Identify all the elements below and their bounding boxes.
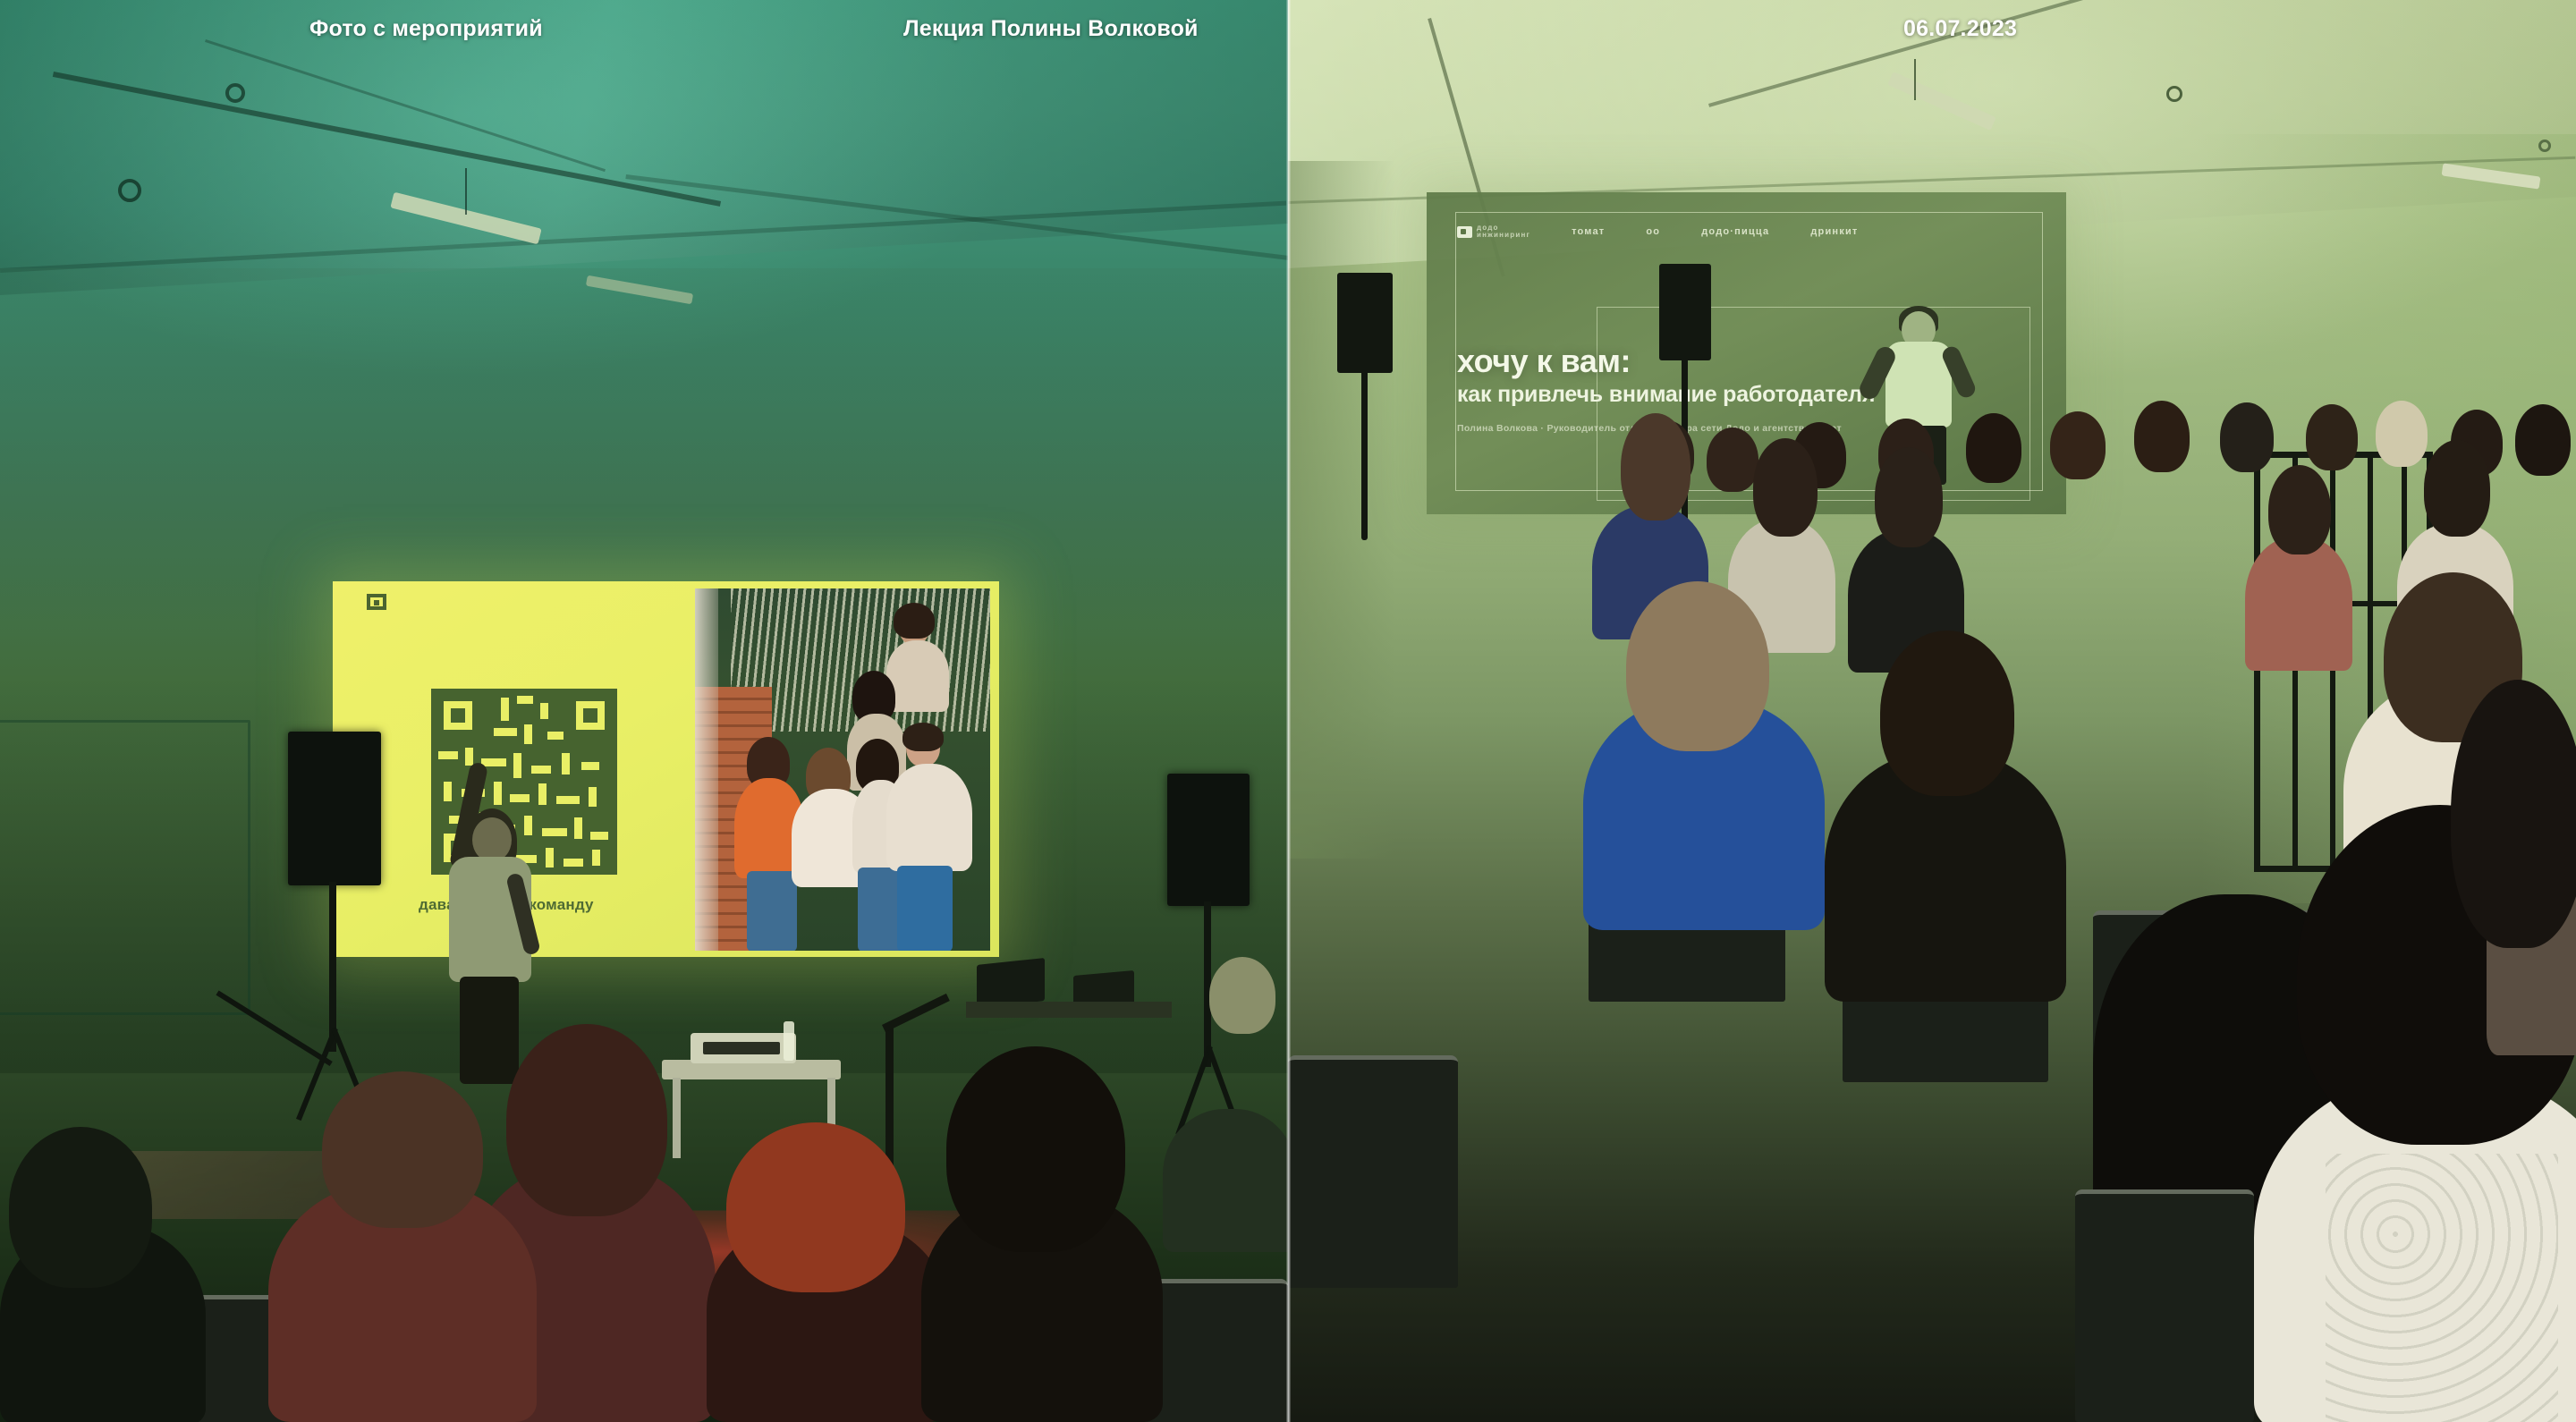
audience-head — [2376, 401, 2428, 467]
hanging-light-1-cable — [465, 168, 467, 215]
overlay-left-label: Фото с мероприятий — [309, 16, 543, 42]
projector-device — [691, 1033, 796, 1063]
audience-head — [9, 1127, 152, 1288]
door-frame — [0, 720, 250, 1015]
audience-head — [322, 1071, 483, 1228]
oo-logo: ОО — [1646, 226, 1660, 237]
audience-head — [2515, 404, 2571, 476]
audience-head — [1875, 447, 1943, 547]
audience-head — [1753, 438, 1818, 537]
ceiling-anchor-icon — [2538, 140, 2551, 152]
qr-finder-tr — [567, 692, 614, 739]
drinkit-logo: дринкит — [1810, 226, 1858, 237]
laptop-left — [977, 958, 1045, 1008]
audience-shoulders — [1163, 1109, 1288, 1252]
ceiling-light-cable — [1914, 59, 1916, 100]
audience-head — [2451, 680, 2576, 948]
audience-head — [1880, 631, 2014, 796]
wall-left-right-panel — [1288, 161, 1395, 859]
table-leg-left — [673, 1078, 681, 1158]
qr-finder-tl — [435, 692, 481, 739]
audience-head — [2134, 401, 2190, 472]
tech-desk — [966, 1002, 1172, 1018]
audience-head — [1707, 427, 1758, 492]
audience-head — [506, 1024, 667, 1216]
audience-chair — [1288, 1055, 1458, 1288]
speaker-stand-left — [329, 882, 336, 1052]
event-photo-left[interactable]: давай к нам в команду — [0, 0, 1288, 1422]
team-photo — [695, 588, 990, 951]
ceiling-hook-icon — [118, 179, 141, 202]
foreground-shirt-pattern — [2326, 1154, 2558, 1422]
pa-speaker-right — [1167, 774, 1250, 906]
audience-head — [726, 1122, 905, 1292]
audience-head — [2050, 411, 2106, 479]
curtain — [695, 588, 718, 951]
pa-speaker-stand-left — [1361, 370, 1368, 540]
event-photo-right[interactable]: Додо Инжиниринг томат ОО додо·пицца дрин… — [1288, 0, 2576, 1422]
audience-head — [1626, 581, 1769, 751]
tomat-logo: томат — [1572, 226, 1605, 237]
audience-head — [2424, 440, 2490, 537]
audience-head — [1209, 957, 1275, 1034]
projection-screen-yellow[interactable]: давай к нам в команду — [333, 581, 999, 957]
dodo-pizza-logo: додо·пицца — [1701, 226, 1769, 237]
audience-head — [2220, 402, 2274, 472]
pa-speaker-left — [288, 732, 381, 885]
presenter-left — [436, 787, 544, 1091]
audience-head — [1966, 413, 2021, 483]
pa-speaker-stage-right — [1659, 264, 1711, 360]
water-bottle — [784, 1021, 794, 1061]
frame-marker-icon — [367, 594, 386, 610]
audience-head — [1621, 413, 1690, 521]
slide-logo-row: Додо Инжиниринг томат ОО додо·пицца дрин… — [1457, 224, 2039, 240]
audience-chair — [2075, 1189, 2254, 1422]
audience-head — [2306, 404, 2358, 470]
gallery-stage: давай к нам в команду — [0, 0, 2576, 1422]
overlay-center-label: Лекция Полины Волковой — [903, 16, 1199, 42]
overlay-date-label: 06.07.2023 — [1903, 16, 2017, 42]
presenter-legs — [460, 977, 519, 1084]
ceiling-anchor-icon — [2166, 86, 2182, 102]
panel-divider — [1286, 0, 1291, 1422]
audience-head — [2268, 465, 2331, 554]
presenter-head — [472, 817, 512, 862]
dodo-logo-icon: Додо Инжиниринг — [1457, 224, 1530, 240]
audience-head — [946, 1046, 1125, 1252]
ceiling-mount-icon — [225, 83, 245, 103]
audience-shoulders — [2245, 537, 2352, 671]
pa-speaker-stage-left — [1337, 273, 1393, 373]
